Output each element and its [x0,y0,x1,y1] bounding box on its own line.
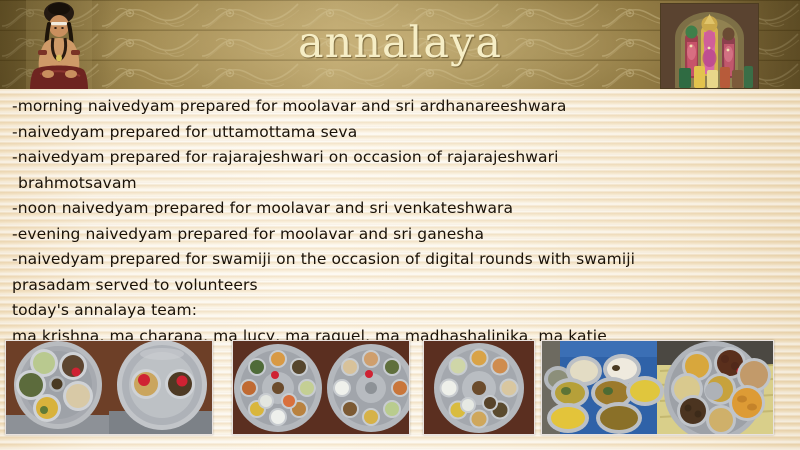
photo-thali-curries-spread-image [542,341,773,434]
photo-thali-circular-bowls-pair-image [233,341,409,434]
body-text-block: -morning naivedyam prepared for moolavar… [0,94,800,349]
text-line: today's annalaya team: [0,298,800,324]
photo-thali-two-plates-image [6,341,212,434]
photo-thali-circular-bowls-pair [232,340,410,435]
photo-thali-two-plates [5,340,213,435]
header-banner: annalaya [0,0,800,89]
slide: annalaya -morning naivedyam prepared for… [0,0,800,450]
photo-thali-circular-bowls-single [423,340,535,435]
text-line: -morning naivedyam prepared for moolavar… [0,94,800,120]
text-line: prasadam served to volunteers [0,273,800,299]
text-line: -noon naivedyam prepared for moolavar an… [0,196,800,222]
photo-thali-circular-bowls-single-image [424,341,534,434]
text-line: -naivedyam prepared for swamiji on the o… [0,247,800,273]
text-line: -naivedyam prepared for rajarajeshwari o… [0,145,800,171]
page-title: annalaya [0,16,800,70]
text-line: -evening naivedyam prepared for moolavar… [0,222,800,248]
photo-thali-curries-spread [541,340,774,435]
text-line: brahmotsavam [0,171,800,197]
text-line: -naivedyam prepared for uttamottama seva [0,120,800,146]
